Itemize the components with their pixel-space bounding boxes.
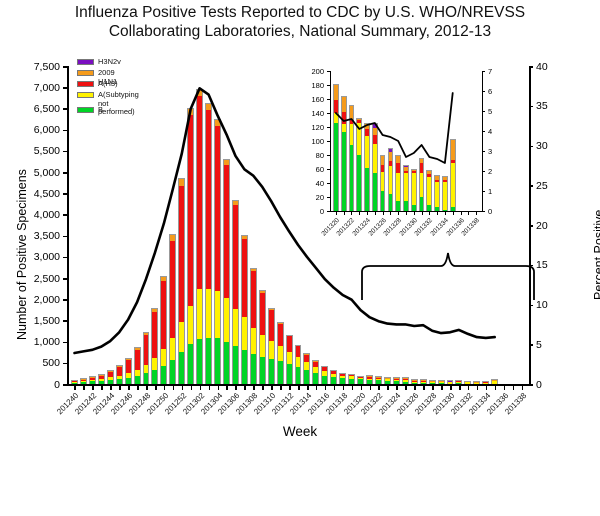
- inset-range-brace-path: [362, 253, 534, 300]
- x-axis-label: Week: [0, 424, 600, 439]
- inset-range-brace: [0, 0, 600, 450]
- y-axis-label-left: Number of Positive Specimens: [15, 169, 29, 340]
- y-axis-label-right: Percent Positive: [592, 210, 600, 300]
